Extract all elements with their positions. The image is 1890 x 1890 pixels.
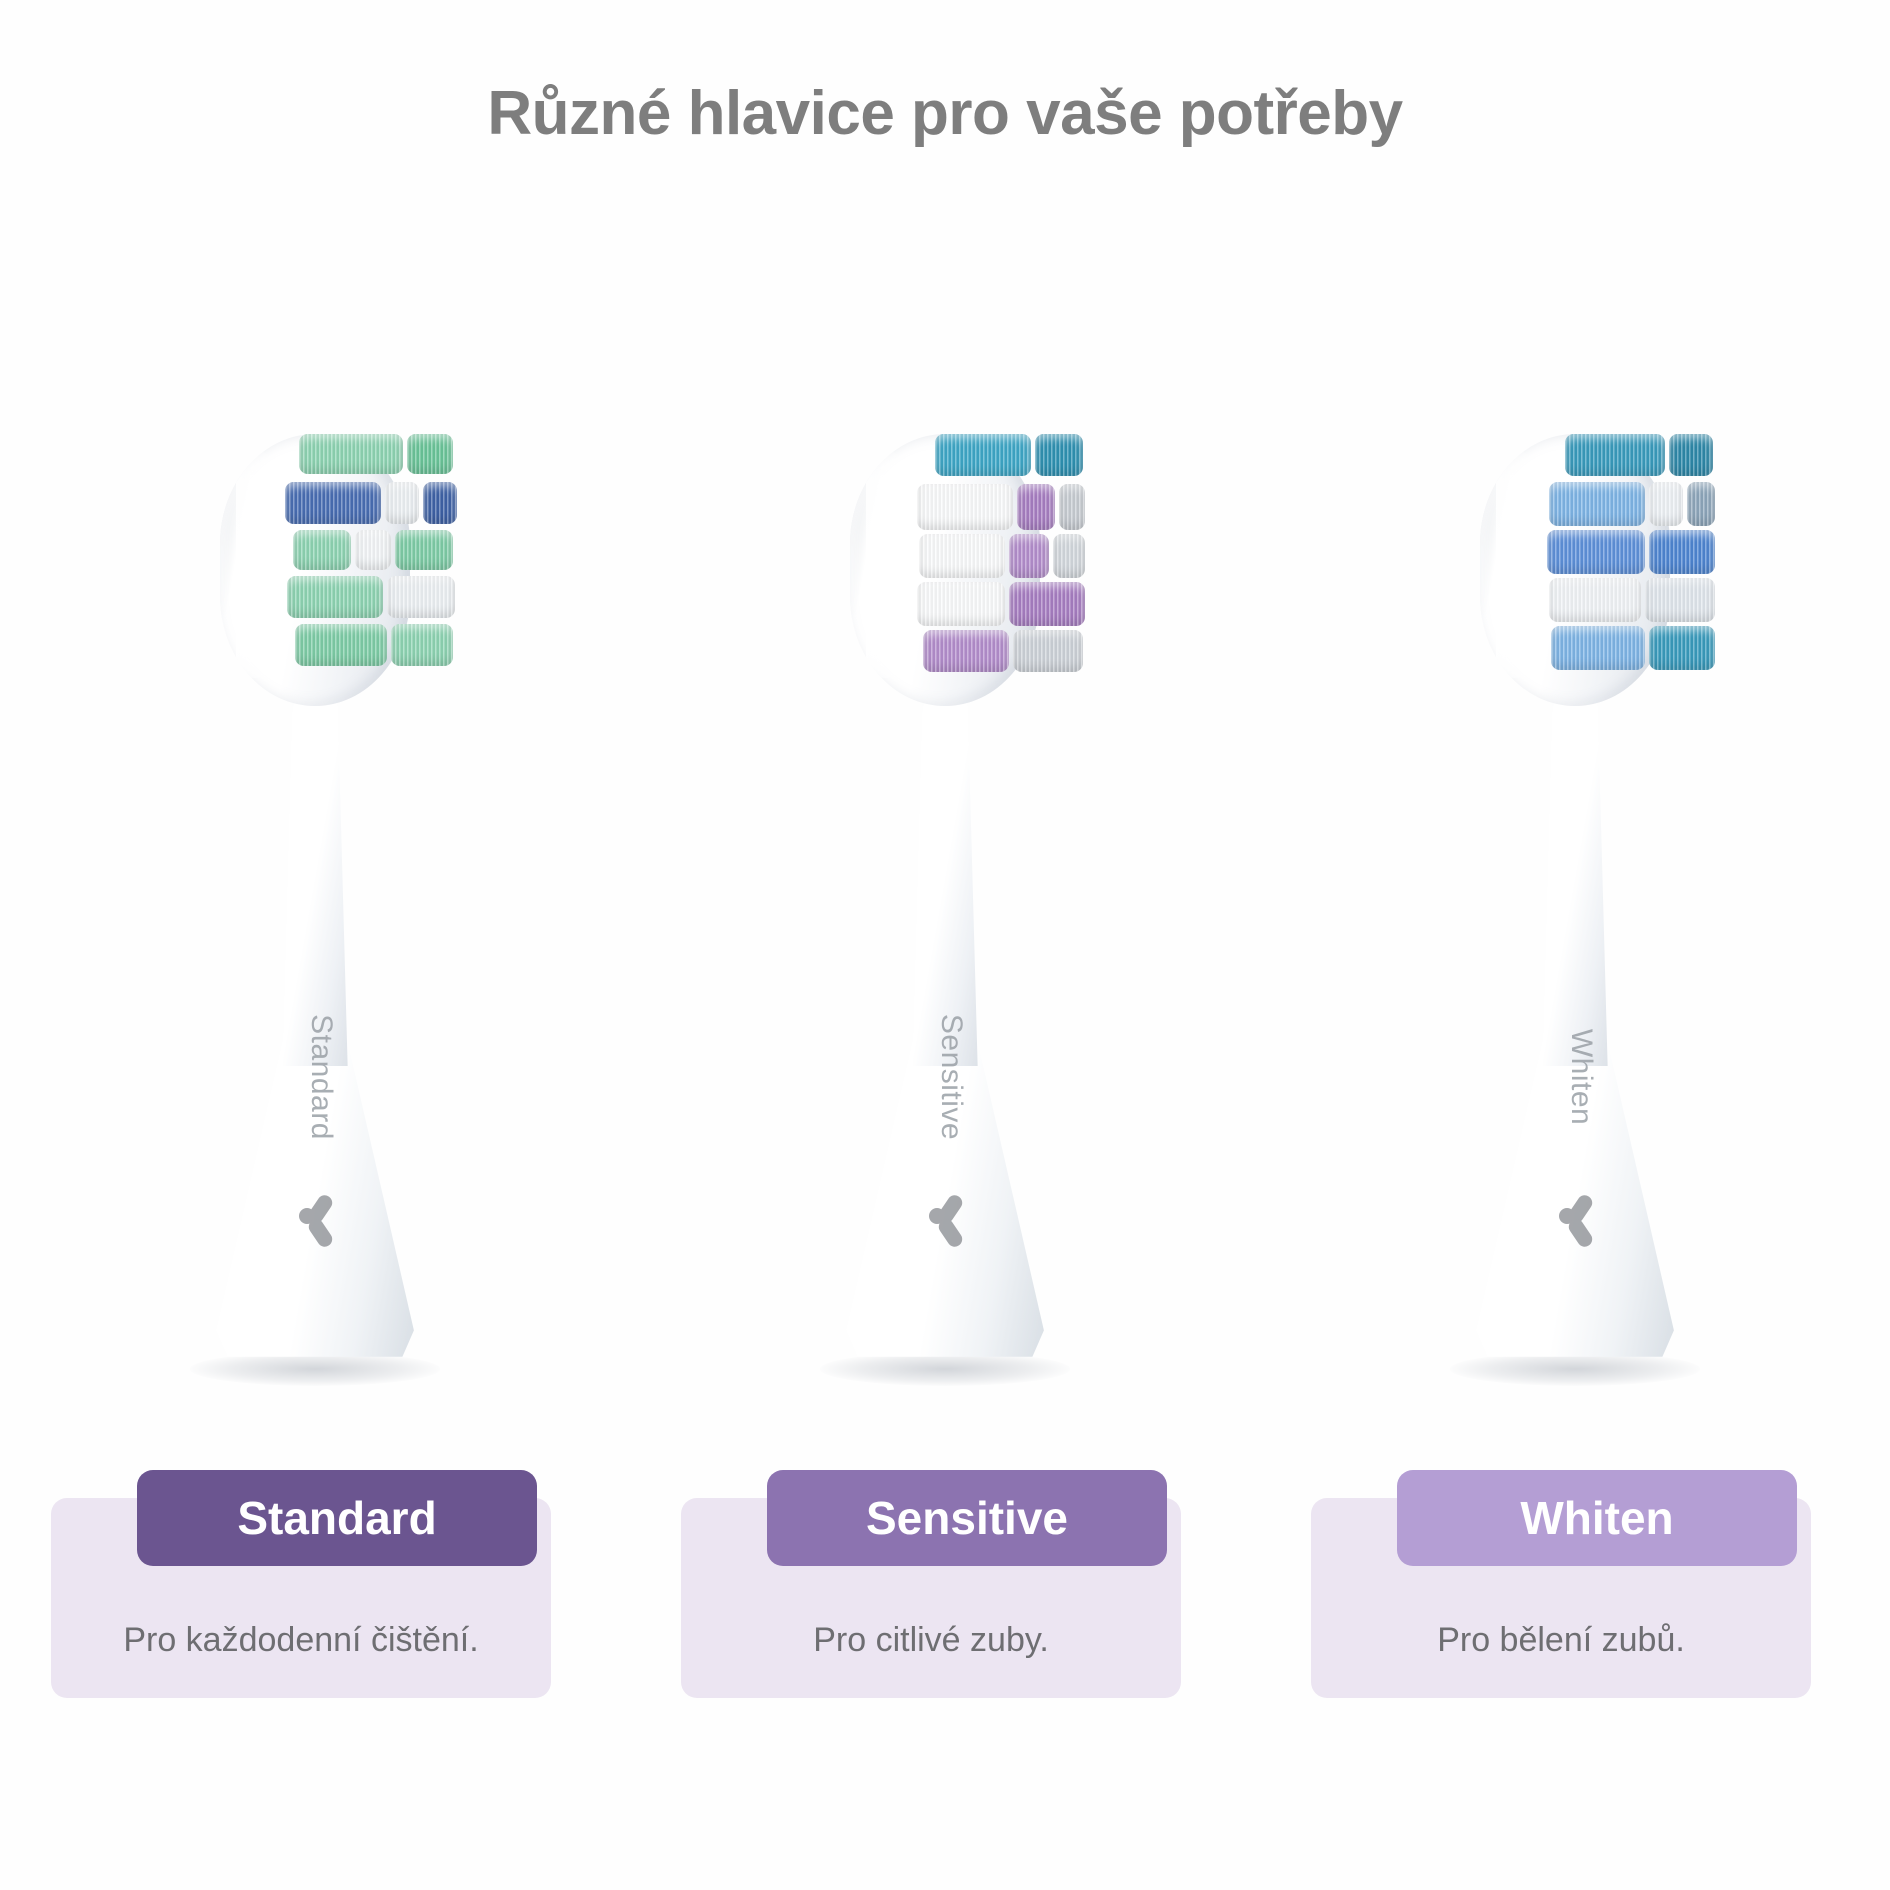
bristle-tuft	[395, 530, 453, 570]
bristle-tuft	[407, 434, 453, 474]
page-title: Různé hlavice pro vaše potřeby	[0, 78, 1890, 149]
badge-sensitive[interactable]: Sensitive	[767, 1470, 1167, 1566]
handle-engraving: Standard	[304, 1014, 338, 1140]
bristle-tuft	[1017, 484, 1055, 530]
card-slot-whiten: Pro bělení zubů. Whiten	[1260, 1470, 1890, 1730]
bristle-tuft	[387, 576, 455, 618]
bristle-tuft	[1053, 534, 1085, 578]
bristle-tuft	[1565, 434, 1665, 476]
bristle-tuft	[1549, 578, 1641, 622]
card-description: Pro každodenní čištění.	[51, 1621, 551, 1660]
card-description: Pro citlivé zuby.	[681, 1621, 1181, 1660]
product-row: Standard Sensitive	[0, 400, 1890, 1410]
bristle-tuft	[1013, 630, 1083, 672]
bristle-tuft	[923, 630, 1009, 672]
bristle-tuft	[287, 576, 383, 618]
bristle-field-standard	[261, 428, 457, 714]
bristle-field-whiten	[1521, 428, 1717, 714]
brush-drop-shadow	[190, 1352, 440, 1386]
bristle-tuft	[919, 534, 1005, 578]
bristle-tuft	[935, 434, 1031, 476]
infographic-page: Různé hlavice pro vaše potřeby Standard	[0, 0, 1890, 1890]
product-sensitive: Sensitive	[630, 400, 1260, 1410]
bristle-tuft	[1649, 530, 1715, 574]
bristle-tuft	[1059, 484, 1085, 530]
product-standard: Standard	[0, 400, 630, 1410]
bristle-tuft	[1669, 434, 1713, 476]
brand-logo-icon	[927, 1190, 979, 1252]
brush-drop-shadow	[820, 1352, 1070, 1386]
bristle-tuft	[423, 482, 457, 524]
bristle-tuft	[1551, 626, 1645, 670]
toothbrush-head-sensitive: Sensitive	[795, 400, 1095, 1410]
bristle-tuft	[1009, 582, 1085, 626]
bristle-tuft	[295, 624, 387, 666]
toothbrush-head-whiten: Whiten	[1425, 400, 1725, 1410]
bristle-tuft	[1009, 534, 1049, 578]
bristle-tuft	[385, 482, 419, 524]
card-slot-sensitive: Pro citlivé zuby. Sensitive	[630, 1470, 1260, 1730]
handle-engraving: Sensitive	[934, 1014, 968, 1140]
bristle-tuft	[299, 434, 403, 474]
bristle-tuft	[1549, 482, 1645, 526]
bristle-tuft	[1547, 530, 1645, 574]
bristle-tuft	[1649, 482, 1683, 526]
bristle-tuft	[917, 582, 1005, 626]
card-description: Pro bělení zubů.	[1311, 1621, 1811, 1660]
brush-drop-shadow	[1450, 1352, 1700, 1386]
brand-logo-icon	[1557, 1190, 1609, 1252]
bristle-tuft	[391, 624, 453, 666]
bristle-tuft	[1687, 482, 1715, 526]
card-slot-standard: Pro každodenní čištění. Standard	[0, 1470, 630, 1730]
bristle-tuft	[355, 530, 391, 570]
badge-standard[interactable]: Standard	[137, 1470, 537, 1566]
bristle-field-sensitive	[891, 428, 1087, 714]
bristle-tuft	[1645, 578, 1715, 622]
caption-card-row: Pro každodenní čištění. Standard Pro cit…	[0, 1470, 1890, 1730]
bristle-tuft	[285, 482, 381, 524]
badge-whiten[interactable]: Whiten	[1397, 1470, 1797, 1566]
handle-engraving: Whiten	[1564, 1029, 1598, 1125]
brand-logo-icon	[297, 1190, 349, 1252]
bristle-tuft	[1649, 626, 1715, 670]
bristle-tuft	[917, 484, 1013, 530]
bristle-tuft	[1035, 434, 1083, 476]
product-whiten: Whiten	[1260, 400, 1890, 1410]
bristle-tuft	[293, 530, 351, 570]
toothbrush-head-standard: Standard	[165, 400, 465, 1410]
